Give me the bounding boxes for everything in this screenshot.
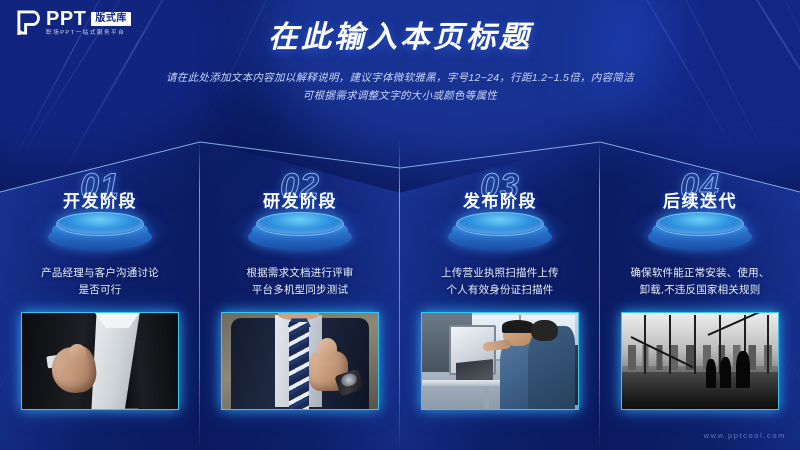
podium-graphic: [247, 212, 353, 246]
brand-tagline: 职场PPT一站式服务平台: [46, 31, 131, 37]
step-panel-04[interactable]: 04 后续迭代 确保软件能正常安装、使用、 卸载,不违反国家相关规则: [600, 140, 800, 450]
slide-canvas: PPT 版式库 职场PPT一站式服务平台 在此输入本页标题 请在此处添加文本内容…: [0, 0, 800, 450]
brand-badge: 版式库: [91, 12, 131, 26]
step-panel-02[interactable]: 02 研发阶段 根据需求文档进行评审 平台多机型同步测试: [200, 140, 400, 450]
step-title: 后续迭代: [663, 193, 737, 210]
step-description: 上传营业执照扫描件上传 个人有效身份证扫描件: [441, 265, 559, 300]
brand-logo[interactable]: PPT 版式库 职场PPT一站式服务平台: [16, 9, 131, 37]
step-desc-line-1: 根据需求文档进行评审: [247, 265, 354, 282]
step-panel-01[interactable]: 01 开发阶段 产品经理与客户沟通讨论 是否可行: [0, 140, 200, 450]
step-panel-03[interactable]: 03 发布阶段 上传营业执照扫描件上传 个人有效身份证扫描件: [400, 140, 600, 450]
podium-graphic: [47, 212, 153, 246]
step-desc-line-1: 确保软件能正常安装、使用、: [630, 265, 769, 282]
step-desc-line-1: 上传营业执照扫描件上传: [441, 265, 559, 282]
page-subtitle: 请在此处添加文本内容加以解释说明，建议字体微软雅黑，字号12~24，行距1.2~…: [0, 69, 800, 106]
podium-graphic: [447, 212, 553, 246]
skyline-window-photo[interactable]: [621, 312, 779, 410]
steps-row: 01 开发阶段 产品经理与客户沟通讨论 是否可行: [0, 140, 800, 450]
handshake-photo[interactable]: [21, 312, 179, 410]
thumbs-up-photo[interactable]: [221, 312, 379, 410]
brand-name: PPT: [46, 9, 86, 29]
footer-watermark: www.pptcool.com: [704, 431, 786, 440]
step-desc-line-2: 个人有效身份证扫描件: [441, 282, 559, 299]
podium-graphic: [647, 212, 753, 246]
office-desk-photo[interactable]: [421, 312, 579, 410]
step-description: 产品经理与客户沟通讨论 是否可行: [41, 265, 159, 300]
subtitle-line-2: 可根据需求调整文字的大小或颜色等属性: [0, 87, 800, 105]
subtitle-line-1: 请在此处添加文本内容加以解释说明，建议字体微软雅黑，字号12~24，行距1.2~…: [0, 69, 800, 87]
step-desc-line-2: 平台多机型同步测试: [247, 282, 354, 299]
step-description: 确保软件能正常安装、使用、 卸载,不违反国家相关规则: [630, 265, 769, 300]
step-title: 研发阶段: [263, 193, 337, 210]
step-desc-line-2: 卸载,不违反国家相关规则: [630, 282, 769, 299]
step-desc-line-2: 是否可行: [41, 282, 159, 299]
step-description: 根据需求文档进行评审 平台多机型同步测试: [247, 265, 354, 300]
step-desc-line-1: 产品经理与客户沟通讨论: [41, 265, 159, 282]
step-title: 发布阶段: [463, 193, 537, 210]
step-title: 开发阶段: [63, 193, 137, 210]
ppt-p-mark-icon: [16, 10, 41, 35]
